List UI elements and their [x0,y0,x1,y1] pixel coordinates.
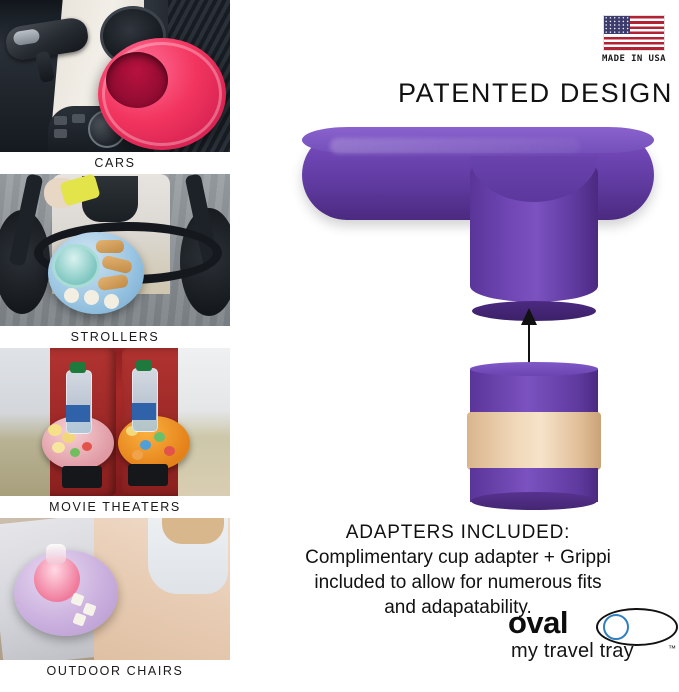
made-in-usa-label: MADE IN USA [601,54,667,64]
water-bottle-right [132,368,158,432]
car-shifter [35,51,55,83]
popcorn [48,424,62,436]
adapter-upper-section [470,369,598,417]
blurb-line-2: Complimentary cup adapter + Grippi [248,545,668,570]
toddler-hair [162,518,224,544]
candy [82,442,92,451]
child-left [0,348,50,496]
teal-snack-cup [52,244,100,288]
usa-flag-icon [604,16,664,50]
photo-caption-movie-theaters: MOVIE THEATERS [0,496,230,518]
granola-bar [101,255,133,275]
bottle-label [132,403,156,420]
water-bottle-left [66,370,92,434]
popcorn [52,442,65,453]
product-exploded-view [230,112,679,512]
candy [164,446,175,456]
logo-tagline: my travel tray [511,640,634,663]
snack-star [82,602,96,616]
snack-piece [84,290,99,305]
grippi-band [467,412,601,470]
photo-caption-strollers: STROLLERS [0,326,230,348]
blurb-line-1: ADAPTERS INCLUDED: [248,520,668,545]
bottle-label [66,405,90,422]
cup-adapter-with-grippi-band [470,362,598,502]
use-case-cell-strollers: STROLLERS [0,174,230,348]
console-button [72,114,85,123]
child-right [178,348,230,496]
candy [132,450,143,460]
bottle-cap-right [136,360,152,371]
adapters-included-text: ADAPTERS INCLUDED: Complimentary cup ada… [248,520,668,620]
insert-direction-arrow-icon [519,308,539,364]
photo-caption-outdoor-chairs: OUTDOOR CHAIRS [0,660,230,682]
snack-star [72,612,86,626]
console-button [54,129,67,138]
tray-highlight [330,138,580,154]
use-case-cell-outdoor-chairs: OUTDOOR CHAIRS [0,518,230,682]
photo-movie-theaters [0,348,230,496]
bottle-cap-left [70,362,86,373]
granola-bar [96,240,124,253]
oval-brand-logo: oval my travel tray ™ [508,606,674,670]
console-button [54,116,67,125]
cup-holder-cylinder [470,164,598,314]
candy [154,432,165,442]
logo-trademark: ™ [668,644,676,653]
snack-piece [104,294,119,309]
photo-strollers [0,174,230,326]
photo-cars [0,0,230,152]
use-case-photo-column: CARS [0,0,230,692]
snack-piece [64,288,79,303]
product-infographic: CARS [0,0,679,692]
adapter-base [471,492,597,510]
photo-caption-cars: CARS [0,152,230,174]
seat-cup-holder-right [128,464,168,486]
logo-circle-icon [603,614,629,640]
adapter-top-rim [470,362,598,376]
pink-travel-tray [98,38,226,150]
arrow-shaft [528,322,530,364]
use-case-cell-cars: CARS [0,0,230,174]
lavender-travel-tray [14,550,118,636]
blue-travel-tray [48,232,144,314]
seat-cup-holder-left [62,466,102,488]
tray-cup-opening [106,52,168,108]
candy [70,448,80,457]
snack-star [70,592,84,606]
use-case-cell-movie-theaters: MOVIE THEATERS [0,348,230,518]
flag-canton [604,16,630,34]
granola-bar [97,274,129,291]
page-title: PATENTED DESIGN [230,78,673,109]
candy [140,440,151,450]
made-in-usa-badge: MADE IN USA [601,16,667,64]
blurb-line-3: included to allow for numerous fits [248,570,668,595]
product-detail-panel: MADE IN USA PATENTED DESIGN [230,0,679,692]
logo-wordmark: oval [508,606,568,640]
photo-outdoor-chairs [0,518,230,660]
